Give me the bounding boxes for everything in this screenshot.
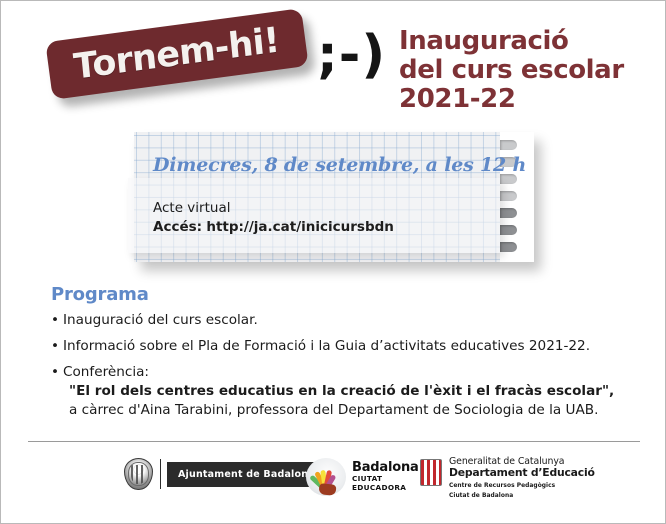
access-label: Accés: <box>153 219 202 235</box>
generalitat-line-4: Ciutat de Badalona <box>449 493 595 500</box>
hole-icon <box>500 191 517 201</box>
conference-label: Conferència: <box>63 364 149 380</box>
conference-quote: "El rol dels centres educatius en la cre… <box>63 382 651 401</box>
event-format: Acte virtual <box>153 199 394 218</box>
page-title: Inauguració del curs escolar 2021-22 <box>399 27 649 114</box>
conference-speaker: a càrrec d'Aina Tarabini, professora del… <box>63 401 651 420</box>
educadora-text: Badalona CIUTAT EDUCADORA <box>352 461 419 492</box>
footer-logos: Ajuntament de Badalona Badalona CIUTAT E… <box>1 456 666 511</box>
senyera-icon <box>420 459 442 486</box>
generalitat-line-3: Centre de Recursos Pedagògics <box>449 483 595 490</box>
sticker-label: Tornem-hi! <box>73 23 282 85</box>
title-line-3: 2021-22 <box>399 85 649 114</box>
wink-emoticon: ;-) <box>317 29 386 81</box>
event-note-card: Dimecres, 8 de setembre, a les 12 h Acte… <box>134 132 534 262</box>
poster-page: Tornem-hi! ;-) Inauguració del curs esco… <box>0 0 666 524</box>
program-section: Programa Inauguració del curs escolar. I… <box>51 284 651 427</box>
educadora-line-1: Badalona <box>352 461 419 475</box>
colorful-hand-icon <box>306 458 346 496</box>
logo-generalitat-catalunya: Generalitat de Catalunya Departament d’E… <box>420 456 595 500</box>
event-details: Acte virtual Accés: http://ja.cat/inicic… <box>153 199 394 237</box>
event-date: Dimecres, 8 de setembre, a les 12 h <box>153 154 526 176</box>
title-line-1: Inauguració <box>399 27 649 56</box>
hole-icon <box>500 242 517 252</box>
educadora-line-3: EDUCADORA <box>352 484 419 493</box>
list-item: Informació sobre el Pla de Formació i la… <box>51 337 651 356</box>
generalitat-text: Generalitat de Catalunya Departament d’E… <box>449 456 595 500</box>
list-item: Conferència: "El rol dels centres educat… <box>51 363 651 420</box>
event-access-row: Accés: http://ja.cat/inicicursbdn <box>153 218 394 237</box>
footer-divider <box>28 441 640 442</box>
ajuntament-label: Ajuntament de Badalona <box>167 462 327 487</box>
city-crest-icon <box>124 458 153 490</box>
program-heading: Programa <box>51 284 651 305</box>
list-item: Inauguració del curs escolar. <box>51 311 651 330</box>
title-line-2: del curs escolar <box>399 56 649 85</box>
sticker-badge: Tornem-hi! <box>45 8 308 100</box>
access-url[interactable]: http://ja.cat/inicicursbdn <box>206 219 394 235</box>
hole-icon <box>500 225 517 235</box>
hole-icon <box>500 208 517 218</box>
program-list: Inauguració del curs escolar. Informació… <box>51 311 651 420</box>
tornem-hi-sticker: Tornem-hi! <box>48 25 306 97</box>
logo-badalona-ciutat-educadora: Badalona CIUTAT EDUCADORA <box>306 458 419 496</box>
logo-divider <box>160 459 161 489</box>
generalitat-line-2: Departament d’Educació <box>449 467 595 480</box>
hole-icon <box>500 140 517 150</box>
palm-shape <box>318 483 336 496</box>
logo-ajuntament-badalona: Ajuntament de Badalona <box>124 458 327 490</box>
header: Tornem-hi! ;-) Inauguració del curs esco… <box>1 1 666 129</box>
